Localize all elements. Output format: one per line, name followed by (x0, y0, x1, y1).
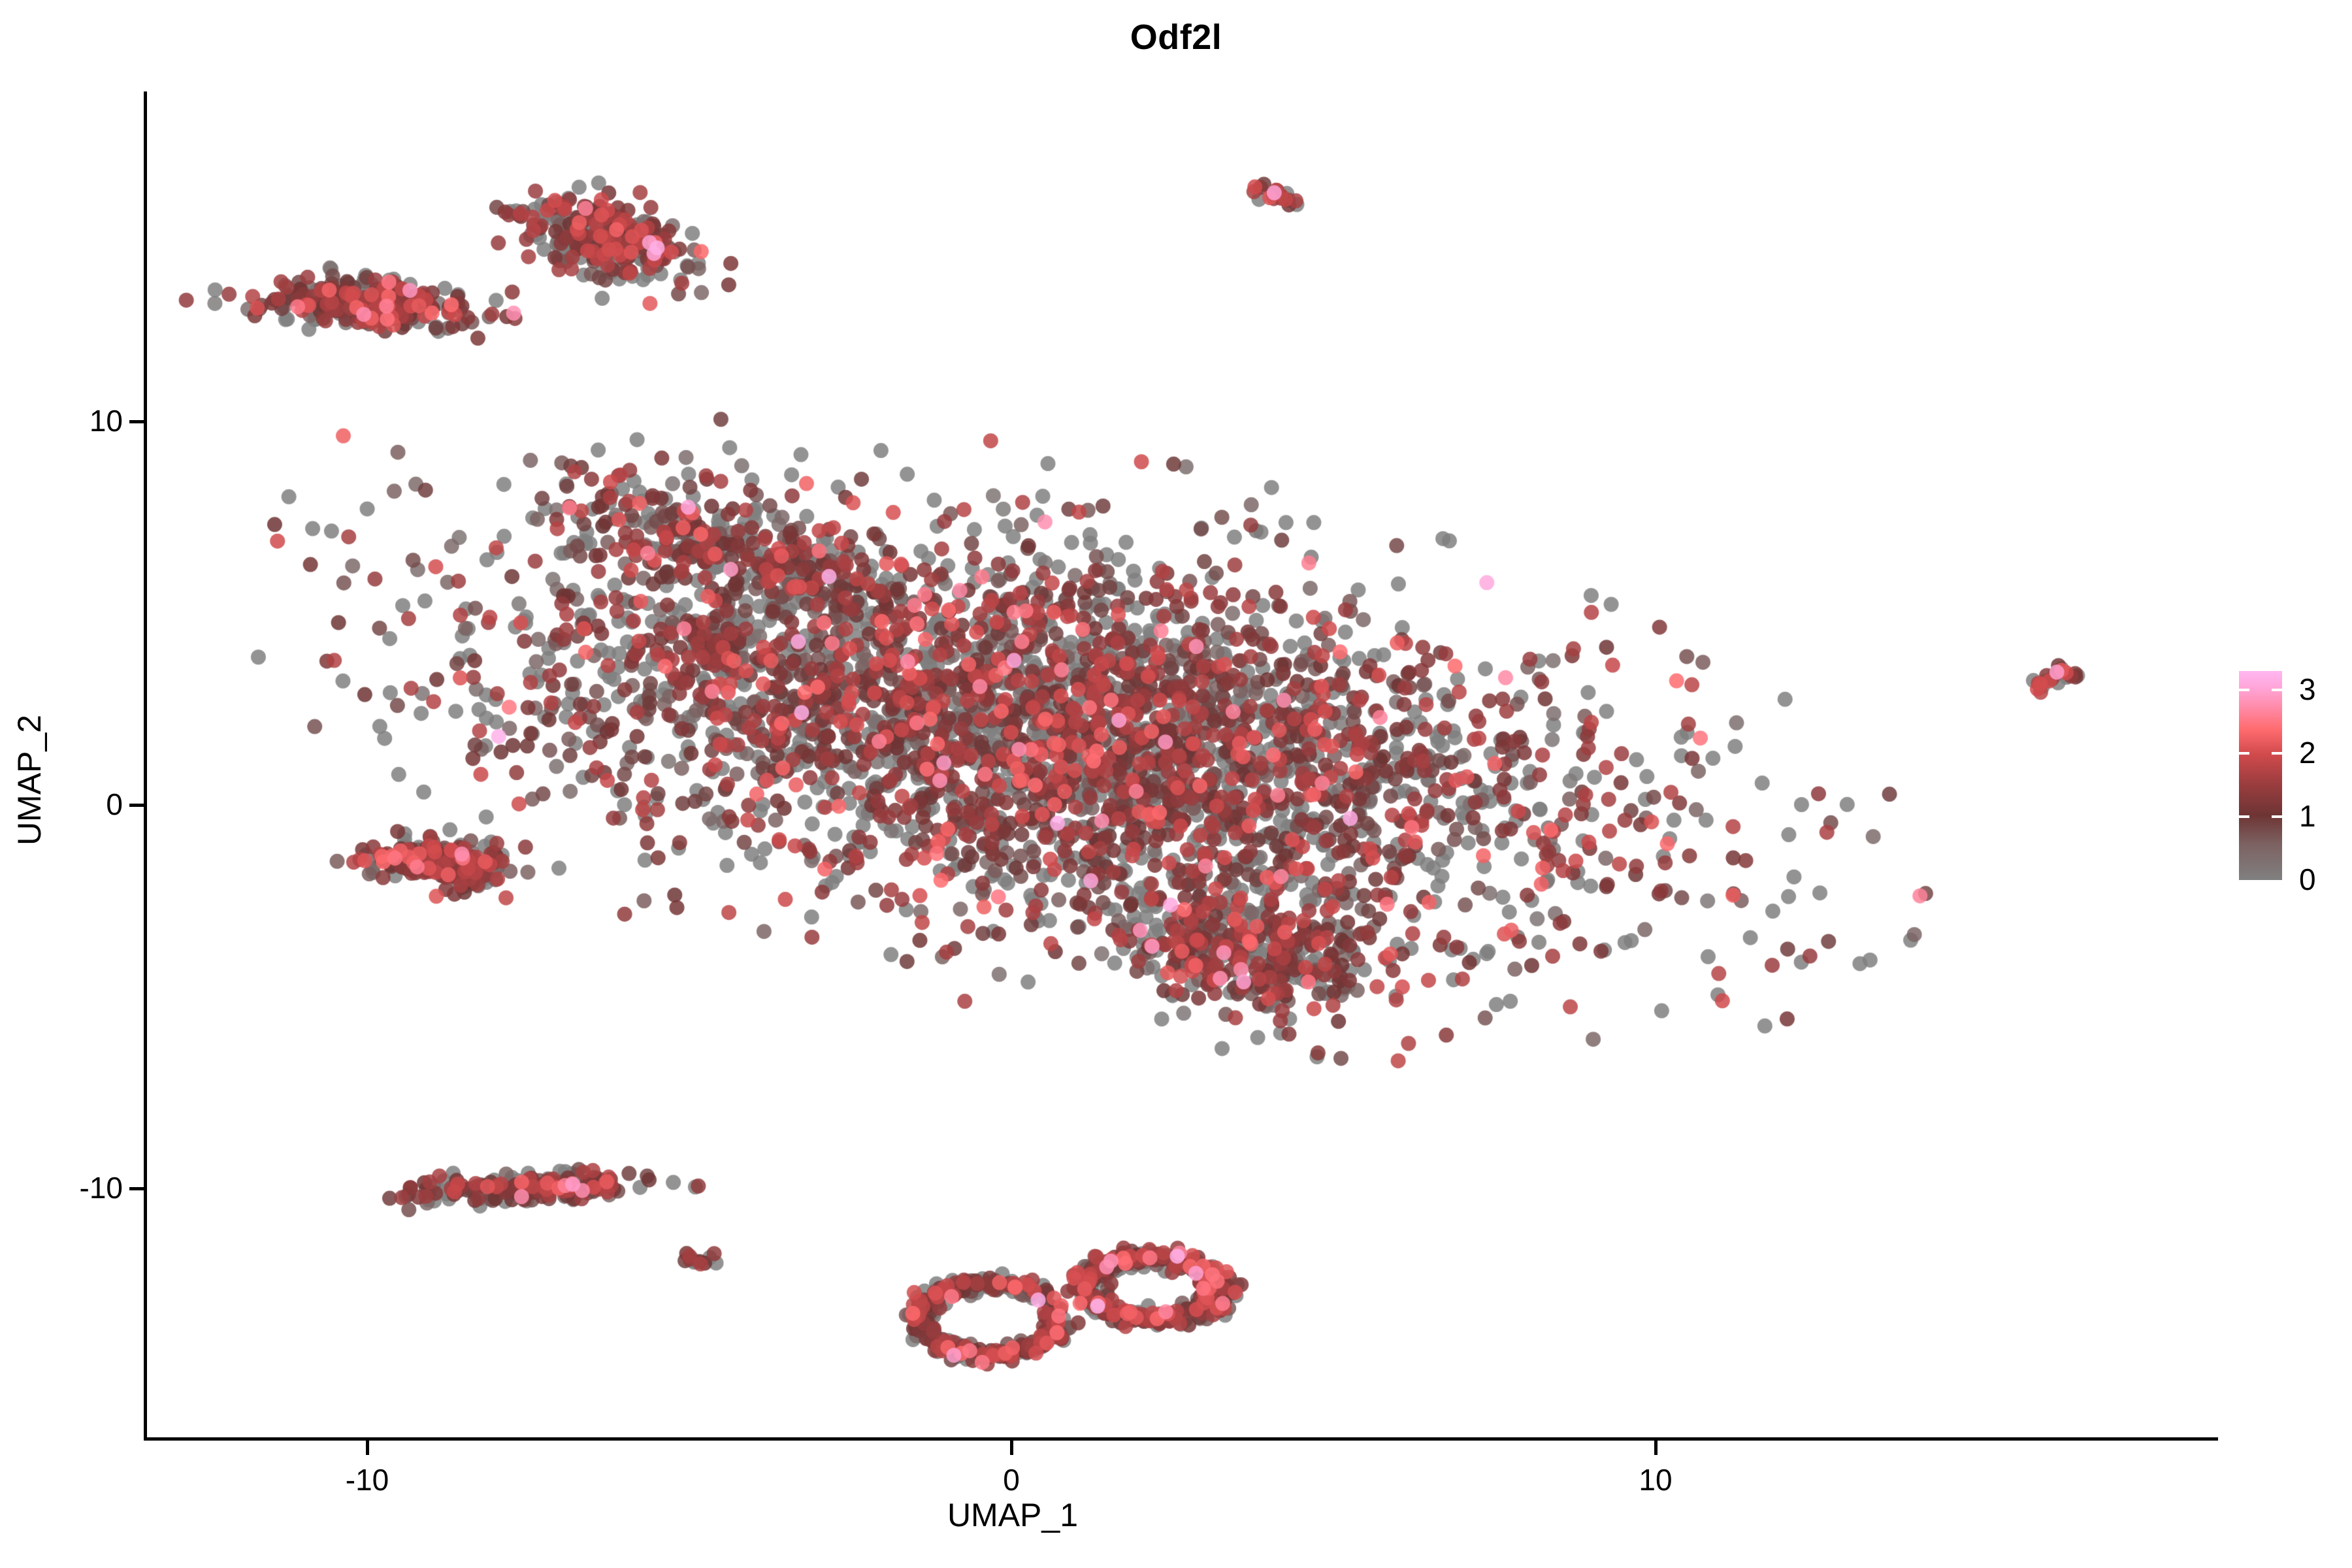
legend-tick-mark (2272, 689, 2282, 691)
umap-feature-plot: Odf2l 100-10 -10010 UMAP_1 UMAP_2 0123 (0, 0, 2352, 1568)
y-axis-label: UMAP_2 (10, 584, 48, 976)
x-axis-ticks: -10010 (0, 0, 2352, 1568)
legend-tick-mark (2239, 752, 2249, 755)
x-tick-mark (366, 1441, 369, 1455)
x-tick-label: 0 (913, 1462, 1109, 1497)
legend-label: 1 (2299, 798, 2352, 834)
color-legend: 0123 (2239, 671, 2282, 880)
x-axis-label: UMAP_1 (817, 1496, 1209, 1534)
legend-tick-mark (2239, 815, 2249, 818)
x-tick-mark (1010, 1441, 1013, 1455)
x-tick-label: -10 (269, 1462, 465, 1497)
legend-label: 2 (2299, 735, 2352, 770)
x-tick-label: 10 (1558, 1462, 1754, 1497)
legend-tick-mark (2239, 689, 2249, 691)
legend-label: 3 (2299, 672, 2352, 707)
x-tick-mark (1654, 1441, 1658, 1455)
legend-tick-mark (2272, 815, 2282, 818)
legend-tick-mark (2272, 752, 2282, 755)
legend-colorbar (2239, 671, 2282, 880)
legend-label: 0 (2299, 862, 2352, 897)
